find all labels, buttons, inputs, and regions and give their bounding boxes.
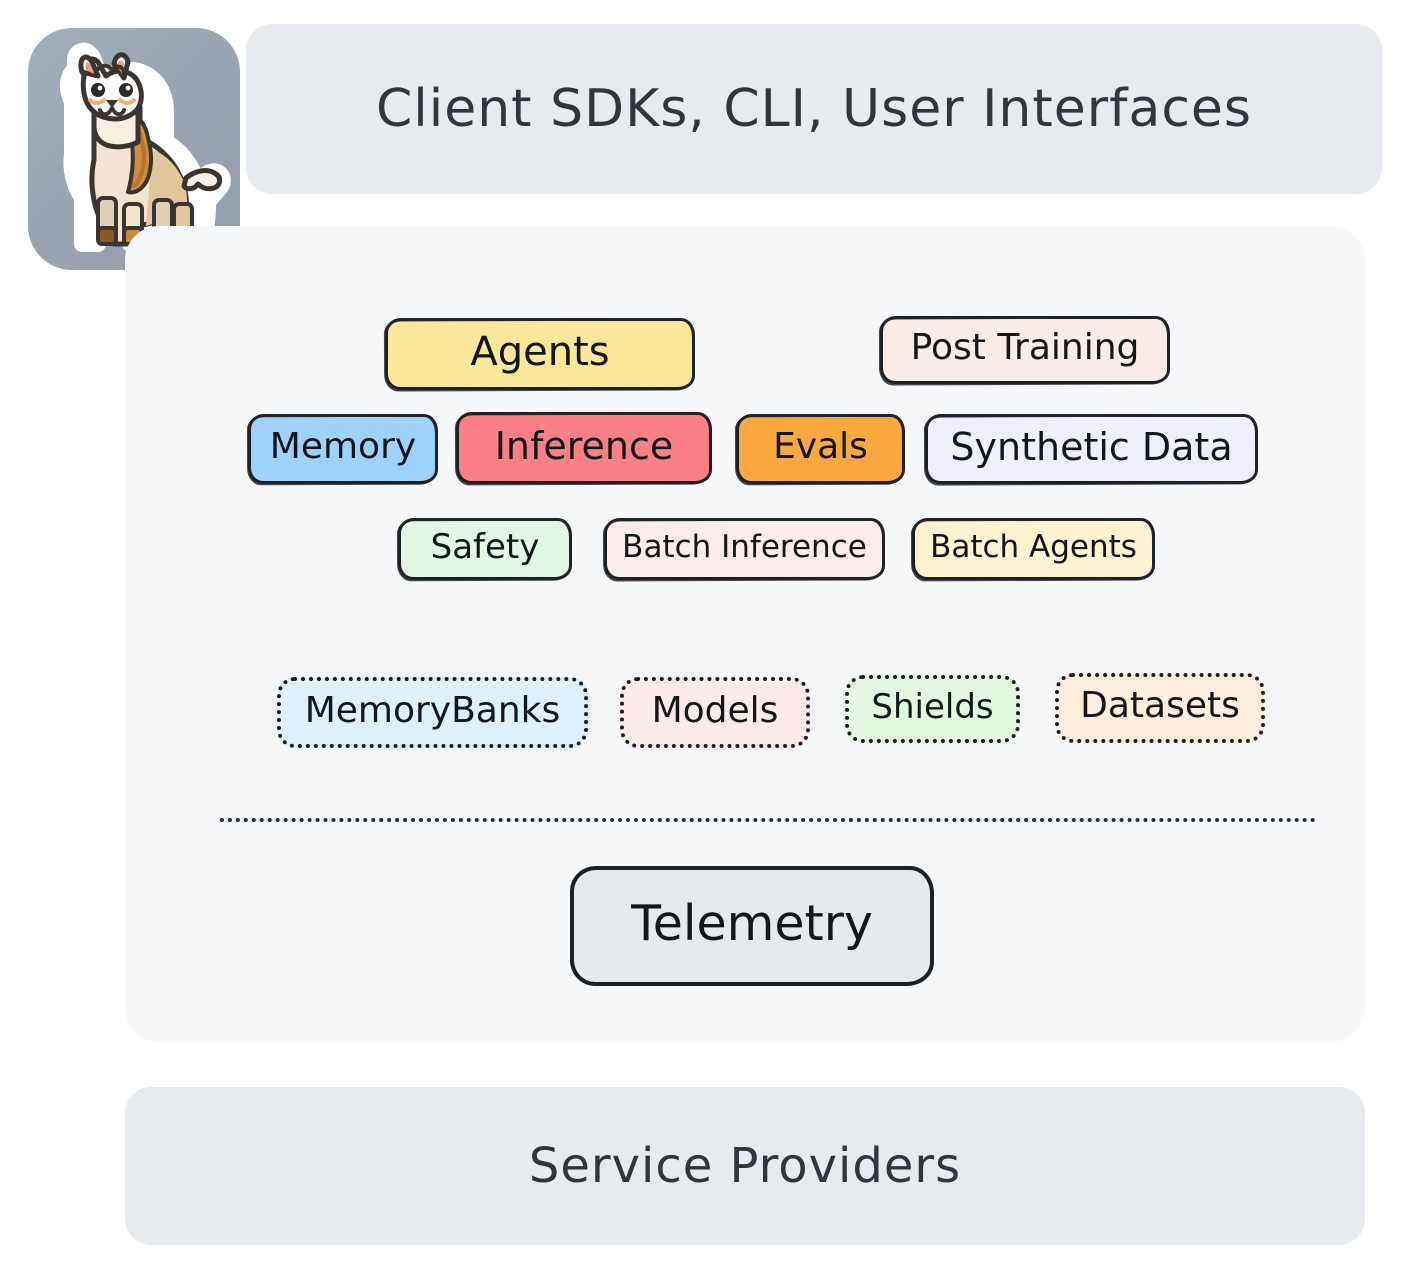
telemetry-label: Telemetry [631,899,873,954]
resource-box-shields[interactable]: Shields [845,675,1020,743]
api-box-memory[interactable]: Memory [248,414,438,484]
api-box-label: Synthetic Data [950,428,1232,470]
resource-box-memorybanks[interactable]: MemoryBanks [277,677,588,748]
api-box-label: Evals [773,429,868,469]
api-box-agents[interactable]: Agents [385,318,695,390]
api-box-safety[interactable]: Safety [398,518,572,580]
resource-box-models[interactable]: Models [620,677,810,748]
api-box-synthetic-data[interactable]: Synthetic Data [925,414,1258,484]
service-providers-banner: Service Providers [125,1087,1365,1245]
api-box-label: Batch Agents [930,532,1137,567]
resource-box-label: Models [652,693,779,733]
api-box-label: Inference [495,427,674,469]
api-box-label: Agents [470,332,609,376]
banner-title: Client SDKs, CLI, User Interfaces [376,79,1252,139]
section-divider [220,818,1316,822]
client-interfaces-banner: Client SDKs, CLI, User Interfaces [246,24,1382,194]
telemetry-box[interactable]: Telemetry [570,866,934,986]
api-box-post-training[interactable]: Post Training [880,316,1170,384]
api-box-evals[interactable]: Evals [736,414,905,484]
resource-box-label: Shields [871,690,993,728]
footer-title: Service Providers [529,1138,961,1194]
api-box-inference[interactable]: Inference [456,412,712,484]
api-box-label: Safety [431,530,540,568]
llama-stack-api-panel: AgentsPost TrainingMemoryInferenceEvalsS… [125,226,1365,1042]
resource-box-datasets[interactable]: Datasets [1055,673,1265,743]
resource-box-label: Datasets [1080,688,1240,728]
resource-box-label: MemoryBanks [305,693,561,733]
api-box-label: Post Training [911,330,1140,370]
api-box-batch-agents[interactable]: Batch Agents [912,518,1155,580]
api-box-batch-inference[interactable]: Batch Inference [604,518,885,580]
api-box-label: Memory [270,429,416,469]
api-box-label: Batch Inference [622,532,867,567]
